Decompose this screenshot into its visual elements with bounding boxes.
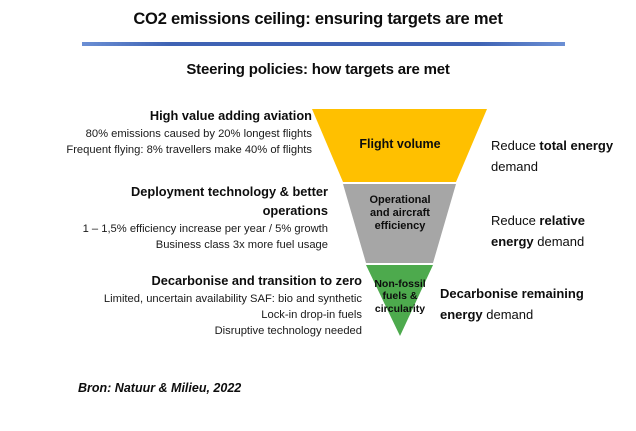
left-block-line: 1 – 1,5% efficiency increase per year / …: [30, 222, 328, 238]
funnel-label-line: fuels &: [348, 290, 452, 302]
right-block-reduce-relative-energy-demand: Reduce relative energy demand: [491, 210, 631, 252]
right-block-suffix: demand: [483, 307, 534, 322]
left-block-high-value-adding-aviation: High value adding aviation 80% emissions…: [30, 108, 312, 159]
right-block-bold-2: energy: [491, 234, 534, 249]
right-block-bold: Decarbonise remaining: [440, 286, 584, 301]
slide-canvas: CO2 emissions ceiling: ensuring targets …: [0, 0, 636, 431]
left-block-heading: High value adding aviation: [30, 108, 312, 125]
right-block-suffix: demand: [491, 159, 538, 174]
left-block-decarbonise-transition: Decarbonise and transition to zero Limit…: [30, 273, 362, 340]
right-block-prefix: Reduce: [491, 213, 539, 228]
right-block-prefix: Reduce: [491, 138, 539, 153]
funnel-label-line: and aircraft: [336, 207, 464, 220]
left-block-deployment-technology: Deployment technology & better operation…: [30, 184, 328, 254]
funnel-label-line: circularity: [348, 303, 452, 315]
right-block-bold-2: energy: [440, 307, 483, 322]
source-citation: Bron: Natuur & Milieu, 2022: [78, 381, 241, 395]
right-block-reduce-total-energy-demand: Reduce total energy demand: [491, 135, 631, 177]
funnel-label-operational-efficiency: Operational and aircraft efficiency: [336, 194, 464, 233]
left-block-heading: Deployment technology & better: [30, 184, 328, 201]
page-title: CO2 emissions ceiling: ensuring targets …: [0, 10, 636, 29]
left-block-line: Lock-in drop-in fuels: [30, 308, 362, 324]
left-block-line: Limited, uncertain availability SAF: bio…: [30, 292, 362, 308]
left-block-line: Disruptive technology needed: [30, 324, 362, 340]
left-block-heading: Decarbonise and transition to zero: [30, 273, 362, 290]
funnel-label-line: Non-fossil: [348, 278, 452, 290]
right-block-suffix: demand: [534, 234, 585, 249]
left-block-heading: operations: [30, 203, 328, 220]
left-block-line: Frequent flying: 8% travellers make 40% …: [30, 143, 312, 159]
title-divider: [82, 42, 565, 46]
funnel-label-non-fossil-fuels: Non-fossil fuels & circularity: [348, 278, 452, 315]
funnel-label-flight-volume: Flight volume: [312, 137, 488, 152]
left-block-line: Business class 3x more fuel usage: [30, 238, 328, 254]
right-block-bold: relative: [539, 213, 585, 228]
left-block-line: 80% emissions caused by 20% longest flig…: [30, 127, 312, 143]
right-block-decarbonise-remaining-energy-demand: Decarbonise remaining energy demand: [440, 283, 636, 325]
funnel-label-line: Operational: [336, 194, 464, 207]
funnel-label-line: efficiency: [336, 220, 464, 233]
right-block-bold: total energy: [539, 138, 613, 153]
page-subtitle: Steering policies: how targets are met: [0, 61, 636, 78]
